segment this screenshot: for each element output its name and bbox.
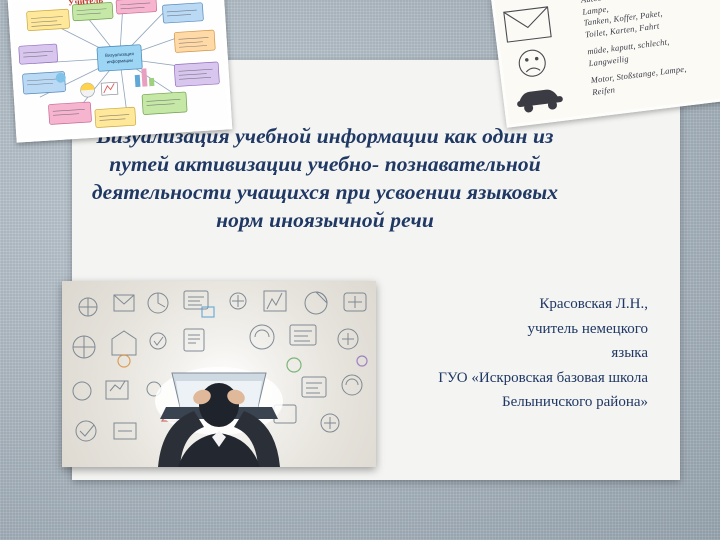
presentation-slide: Визуализация учебной информации как один…	[0, 0, 720, 540]
title-line: речи	[390, 208, 434, 232]
page-title: Визуализация учебной информации как один…	[90, 122, 560, 234]
mindmap-canvas: Визуализация информации	[12, 0, 228, 138]
information-overload-photo	[62, 281, 376, 467]
chalk-doodles	[62, 281, 376, 467]
mindmap-graphic: Визуализация информации	[12, 0, 228, 138]
notes-text-block: Autobahn, Straße, Kilometer, Lampe, Tank…	[580, 0, 720, 98]
handwritten-notes-image: Autobahn, Straße, Kilometer, Lampe, Tank…	[491, 0, 720, 128]
mindmap-poster-image: Визуализация информации	[8, 0, 233, 143]
